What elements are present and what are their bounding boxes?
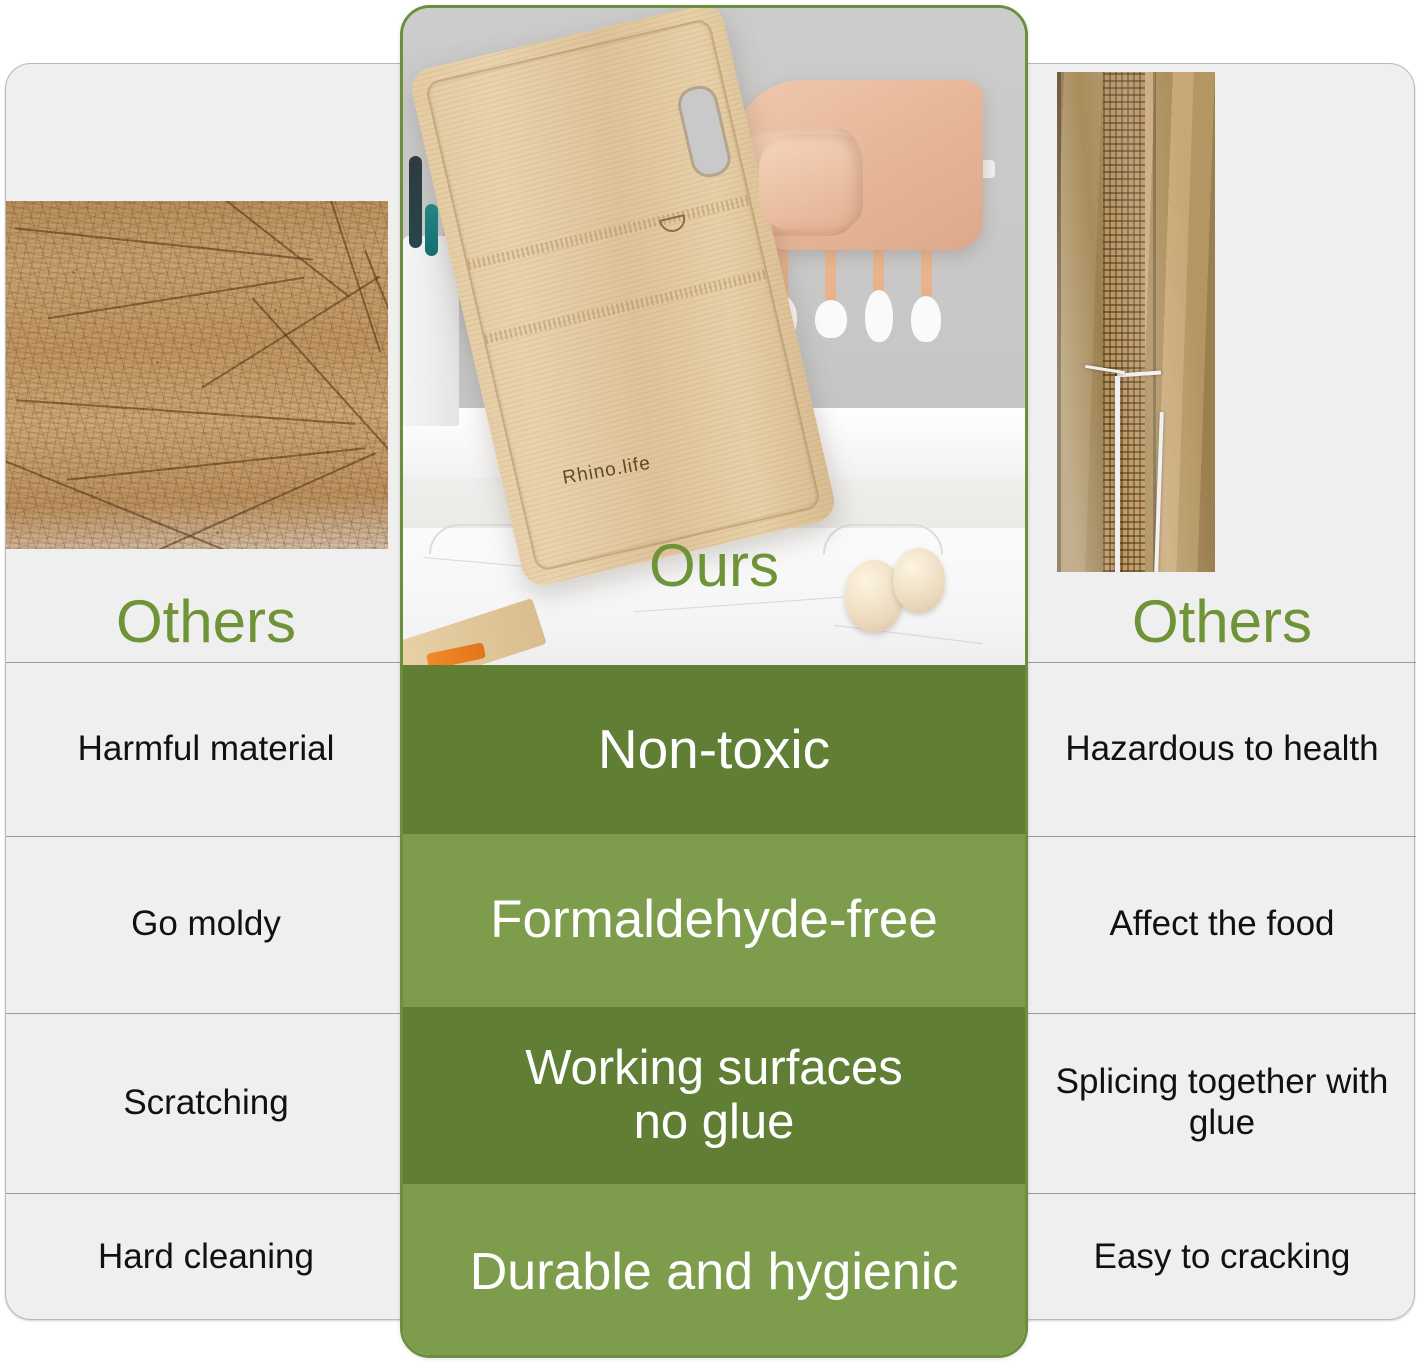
cell-left-row-3: Scratching [6,1013,406,1193]
knife-handle-dark [409,156,422,248]
cell-left-row-1: Harmful material [6,662,406,836]
cell-right-row-3: Splicing together with glue [1029,1013,1415,1193]
cell-center-row-3-line-2: no glue [525,1096,903,1150]
hand-knuckles [759,134,863,230]
column-header-others-left: Others [6,592,406,652]
comparison-infographic: Others Others Harmful material Go moldy … [0,0,1420,1366]
cell-center-row-2: Formaldehyde-free [403,834,1025,1007]
cell-center-row-1: Non-toxic [403,665,1025,834]
knife-block [403,236,459,426]
cell-center-row-3: Working surfaces no glue [403,1007,1025,1184]
column-header-others-right: Others [1029,592,1415,652]
cell-center-row-3-line-1: Working surfaces [525,1042,903,1096]
cell-right-row-2: Affect the food [1029,836,1415,1013]
knife-handle-teal [425,204,438,256]
scratched-board-photo [6,201,388,549]
cracked-bamboo-photo-wrap [1029,64,1415,584]
product-photo: Rhino.life Ours [403,8,1025,665]
ours-highlight-panel: Rhino.life Ours Non-toxic Formaldehyde-f… [400,5,1028,1358]
column-header-ours: Ours [403,536,1025,596]
cell-right-row-4: Easy to cracking [1029,1193,1415,1321]
cell-left-row-4: Hard cleaning [6,1193,406,1321]
cell-left-row-2: Go moldy [6,836,406,1013]
cracked-bamboo-photo [1057,72,1215,572]
cell-right-row-1: Hazardous to health [1029,662,1415,836]
cell-center-row-4: Durable and hygienic [403,1184,1025,1358]
